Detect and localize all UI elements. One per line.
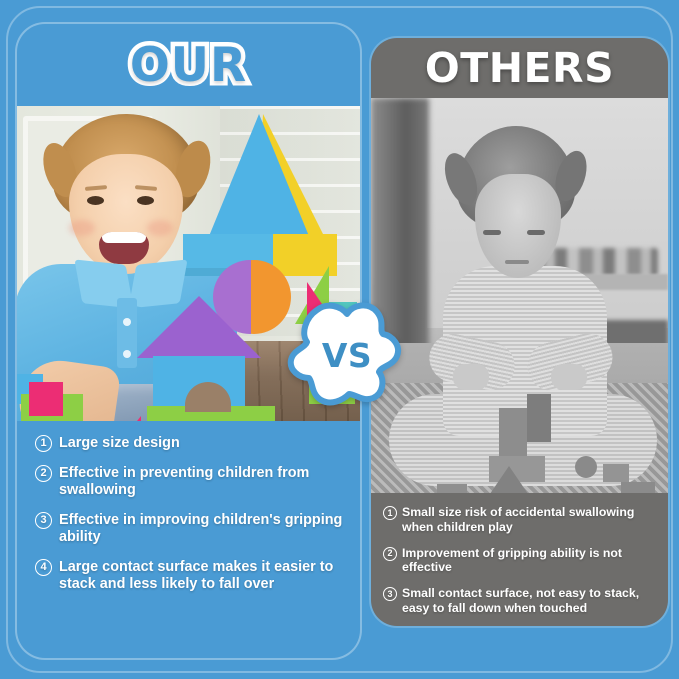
- vs-badge: VS: [287, 296, 405, 414]
- bullet-number: 1: [383, 506, 397, 520]
- bullet-text: Small contact surface, not easy to stack…: [402, 586, 656, 616]
- block-pink-small-left: [29, 382, 63, 416]
- gray-block: [499, 408, 527, 462]
- gray-block: [603, 464, 629, 482]
- gray-child-eye-left: [483, 230, 501, 235]
- our-header: OUR: [17, 24, 360, 106]
- gray-child-hand-right: [551, 364, 587, 390]
- bullet-number: 2: [383, 547, 397, 561]
- bullet-text: Improvement of gripping ability is not e…: [402, 546, 656, 576]
- bullet-text: Effective in preventing children from sw…: [59, 465, 344, 499]
- child-cheek-right: [147, 220, 173, 236]
- block-purple-roof: [137, 296, 261, 358]
- child-eye-right: [137, 196, 154, 205]
- others-header: OTHERS: [371, 38, 668, 98]
- list-item: 3 Effective in improving children's grip…: [35, 512, 344, 546]
- others-photo: [371, 98, 668, 493]
- gray-block: [479, 466, 539, 493]
- gray-child-hand-left: [453, 364, 489, 390]
- bullet-number: 2: [35, 465, 52, 482]
- list-item: 4 Large contact surface makes it easier …: [35, 559, 344, 593]
- bullet-number: 3: [383, 587, 397, 601]
- list-item: 1 Large size design: [35, 435, 344, 452]
- shirt-button-top: [123, 318, 131, 326]
- bullet-text: Effective in improving children's grippi…: [59, 512, 344, 546]
- our-feature-list: 1 Large size design 2 Effective in preve…: [17, 421, 360, 616]
- gray-block: [527, 394, 551, 442]
- bullet-text: Small size risk of accidental swallowing…: [402, 505, 656, 535]
- others-title: OTHERS: [425, 48, 614, 89]
- list-item: 3 Small contact surface, not easy to sta…: [383, 586, 656, 616]
- child-mouth: [99, 232, 149, 264]
- bullet-text: Large size design: [59, 435, 344, 452]
- shirt-button-bottom: [123, 350, 131, 358]
- others-drawback-list: 1 Small size risk of accidental swallowi…: [371, 493, 668, 626]
- gray-block: [621, 482, 655, 493]
- child-cheek-left: [69, 220, 95, 236]
- bullet-number: 3: [35, 512, 52, 529]
- gray-block: [575, 456, 597, 478]
- our-title: OUR: [130, 42, 247, 89]
- list-item: 1 Small size risk of accidental swallowi…: [383, 505, 656, 535]
- bullet-number: 4: [35, 559, 52, 576]
- gray-block: [437, 484, 467, 493]
- gray-child-mouth: [505, 260, 529, 264]
- list-item: 2 Improvement of gripping ability is not…: [383, 546, 656, 576]
- child-teeth: [102, 232, 146, 243]
- block-pink-wedge: [95, 416, 141, 421]
- block-blue-triangle: [205, 114, 313, 246]
- list-item: 2 Effective in preventing children from …: [35, 465, 344, 499]
- gray-child-eye-right: [527, 230, 545, 235]
- bullet-text: Large contact surface makes it easier to…: [59, 559, 344, 593]
- vs-label: VS: [287, 296, 405, 414]
- gray-child-subject: [423, 126, 623, 486]
- others-panel: OTHERS: [371, 38, 668, 626]
- bullet-number: 1: [35, 435, 52, 452]
- child-eye-left: [87, 196, 104, 205]
